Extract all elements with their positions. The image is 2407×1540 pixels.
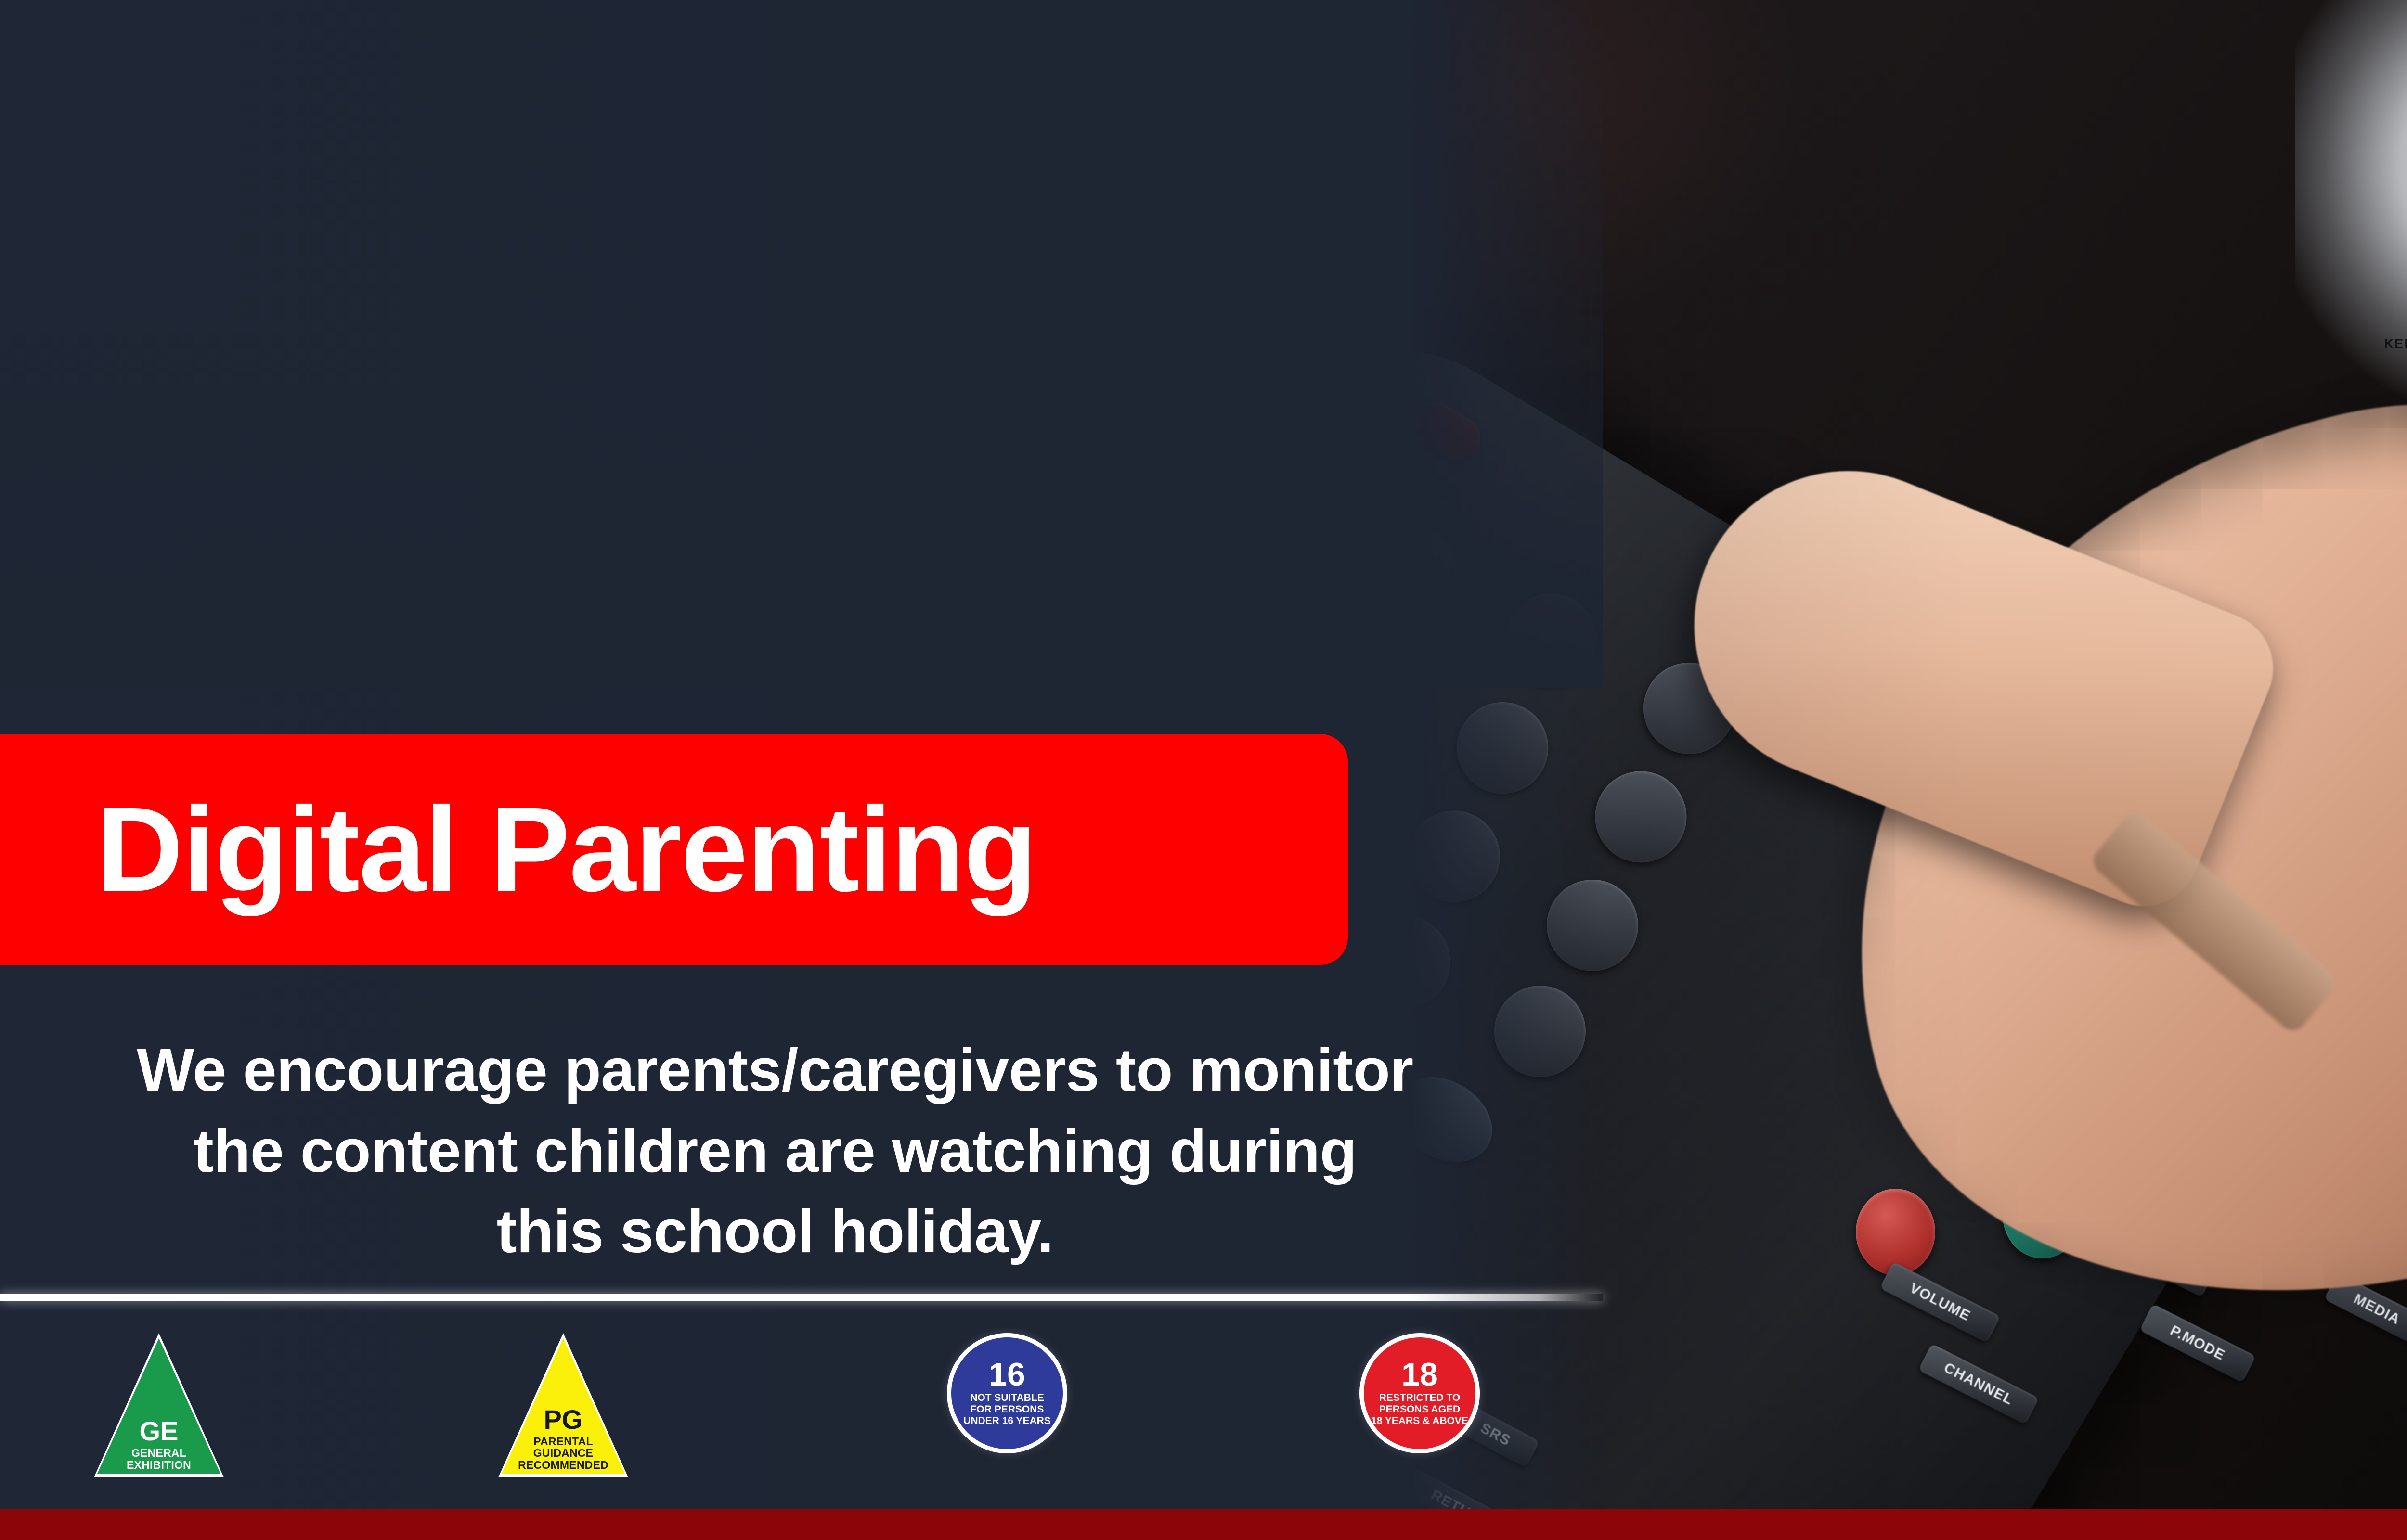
ge-code: GE — [94, 1417, 224, 1445]
age18-code: 18 — [1401, 1359, 1438, 1390]
age16-code: 16 — [989, 1359, 1025, 1390]
rating-badge-18: 18 RESTRICTED TO PERSONS AGED 18 YEARS &… — [1359, 1333, 1480, 1453]
age16-desc-2: FOR PERSONS — [963, 1404, 1051, 1415]
page-title: Digital Parenting — [0, 789, 1036, 910]
kfcb-logo: KFCB KENYA FILM CLASSIFICATION BOARD — [2324, 5, 2407, 371]
kfcb-logo-mark: KFCB — [2363, 29, 2407, 346]
age18-circle: 18 RESTRICTED TO PERSONS AGED 18 YEARS &… — [1359, 1333, 1480, 1453]
pg-desc-2: GUIDANCE — [498, 1447, 628, 1459]
pg-text: PG PARENTAL GUIDANCE RECOMMENDED — [498, 1405, 628, 1471]
body-copy: We encourage parents/caregivers to monit… — [29, 1030, 1521, 1272]
age18-desc-1: RESTRICTED TO — [1371, 1392, 1468, 1404]
poster-root: SCHOOL HOLIDAY CH LI — [0, 0, 2407, 1540]
pg-desc-3: RECOMMENDED — [498, 1459, 628, 1471]
title-banner: Digital Parenting — [0, 734, 1348, 965]
ge-triangle: GE GENERAL EXHIBITION — [94, 1333, 224, 1477]
logo-caption: KENYA FILM CLASSIFICATION BOARD — [2324, 336, 2407, 351]
age18-desc: RESTRICTED TO PERSONS AGED 18 YEARS & AB… — [1371, 1392, 1468, 1427]
age18-desc-2: PERSONS AGED — [1371, 1404, 1468, 1415]
rating-badges-row: GE GENERAL EXHIBITION PG PARENTAL GUIDAN… — [0, 1333, 1603, 1492]
ge-desc-2: EXHIBITION — [94, 1459, 224, 1471]
body-line-3: this school holiday. — [29, 1191, 1521, 1272]
pg-code: PG — [498, 1405, 628, 1434]
ge-text: GE GENERAL EXHIBITION — [94, 1417, 224, 1471]
ge-desc-1: GENERAL — [94, 1447, 224, 1459]
panel-top-fade — [0, 0, 1603, 688]
rating-badge-ge: GE GENERAL EXHIBITION — [94, 1333, 224, 1477]
bottom-red-bar — [0, 1509, 2407, 1540]
horizontal-divider — [0, 1294, 1603, 1301]
rating-badge-pg: PG PARENTAL GUIDANCE RECOMMENDED — [498, 1333, 628, 1477]
age18-desc-3: 18 YEARS & ABOVE — [1371, 1415, 1468, 1427]
age16-circle: 16 NOT SUITABLE FOR PERSONS UNDER 16 YEA… — [947, 1333, 1067, 1453]
pg-desc-1: PARENTAL — [498, 1436, 628, 1447]
body-line-2: the content children are watching during — [29, 1111, 1521, 1192]
body-line-1: We encourage parents/caregivers to monit… — [29, 1030, 1521, 1111]
pg-triangle: PG PARENTAL GUIDANCE RECOMMENDED — [498, 1333, 628, 1477]
age16-desc: NOT SUITABLE FOR PERSONS UNDER 16 YEARS — [963, 1392, 1051, 1427]
rating-badge-16: 16 NOT SUITABLE FOR PERSONS UNDER 16 YEA… — [947, 1333, 1067, 1453]
age16-desc-1: NOT SUITABLE — [963, 1392, 1051, 1404]
age16-desc-3: UNDER 16 YEARS — [963, 1415, 1051, 1427]
